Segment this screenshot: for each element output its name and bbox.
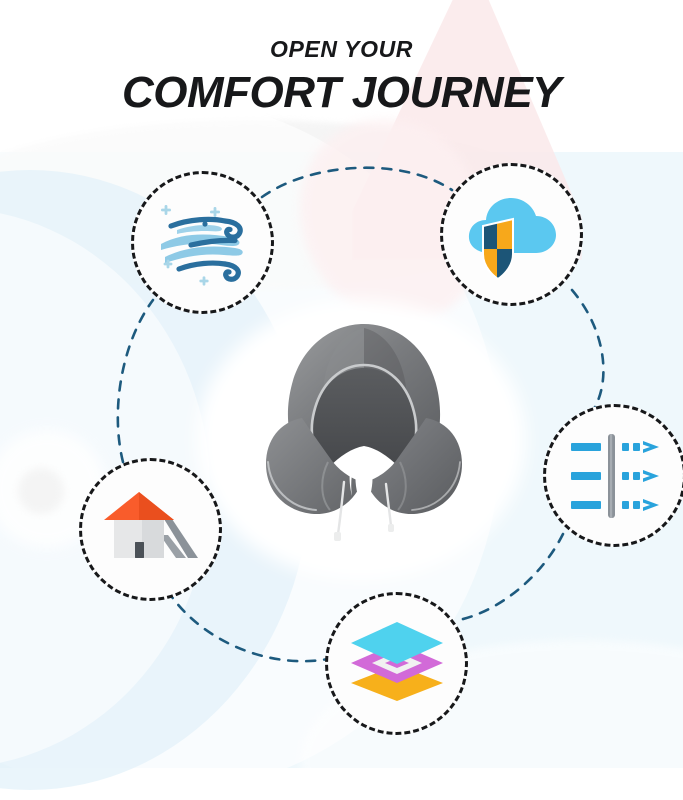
title-kicker: OPEN YOUR xyxy=(0,38,683,61)
node-cloud-shield[interactable] xyxy=(440,163,583,306)
wind-dot-accent xyxy=(202,221,207,226)
house-door xyxy=(135,542,144,558)
house-signal-icon xyxy=(102,488,200,572)
signal-bars xyxy=(160,519,198,558)
connector-cloud-filter xyxy=(572,290,603,412)
filter-inlet-bars xyxy=(571,443,601,509)
connector-filter-layers xyxy=(459,534,563,620)
wind-breeze-icon xyxy=(155,200,251,286)
connector-wind-cloud xyxy=(262,168,452,197)
air-filter-icon xyxy=(569,432,661,520)
house-wall-shade xyxy=(142,520,164,558)
node-house-signal[interactable] xyxy=(79,458,222,601)
connector-layers-house xyxy=(166,588,333,661)
infographic-canvas: OPEN YOUR COMFORT JOURNEY xyxy=(0,0,683,800)
cloud-shield-icon xyxy=(460,187,564,283)
title-headline: COMFORT JOURNEY xyxy=(0,71,683,115)
hooded-travel-neck-pillow-illustration xyxy=(228,306,500,546)
node-wind-breeze[interactable] xyxy=(131,171,274,314)
node-air-filter[interactable] xyxy=(543,404,683,547)
shield-shape xyxy=(480,217,519,283)
drawstring-tip-right xyxy=(388,524,394,532)
product-image xyxy=(228,306,500,546)
filter-outlet-arrows xyxy=(622,441,659,511)
layers-stack-icon xyxy=(348,619,446,709)
connector-house-wind xyxy=(118,300,153,462)
house-roof-shade xyxy=(139,492,174,520)
page-title: OPEN YOUR COMFORT JOURNEY xyxy=(0,38,683,115)
drawstring-tip-left xyxy=(334,532,341,541)
node-layers-stack[interactable] xyxy=(325,592,468,735)
